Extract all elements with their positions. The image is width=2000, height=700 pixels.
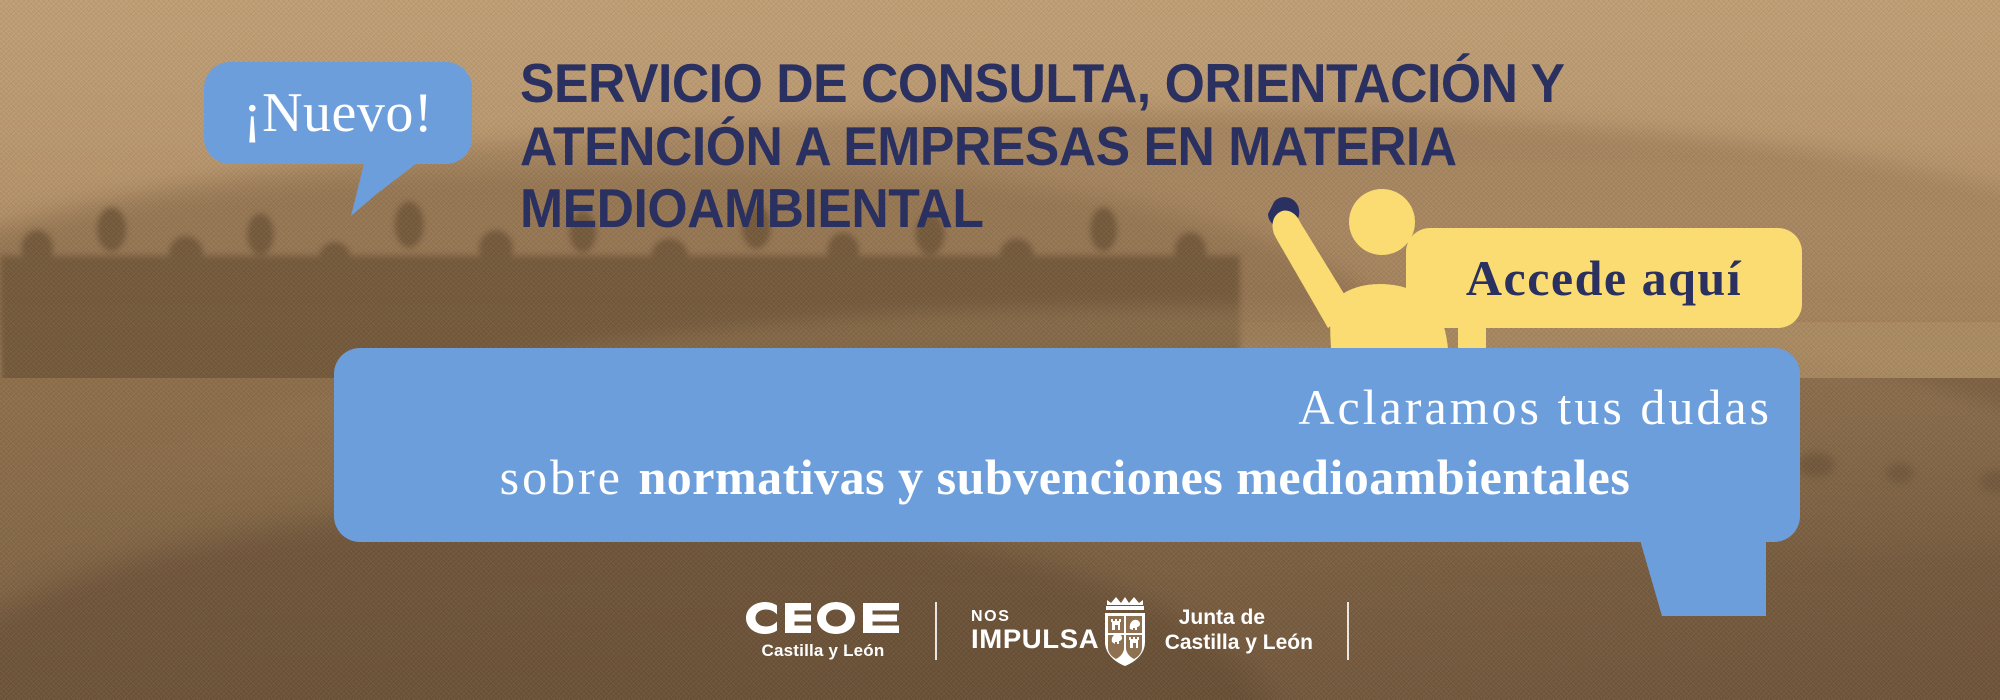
coat-of-arms-icon	[1097, 594, 1153, 668]
message-bubble-tail	[1640, 540, 1766, 616]
access-here-button[interactable]: Accede aquí	[1406, 228, 1802, 328]
access-here-button-label: Accede aquí	[1466, 249, 1742, 307]
promotional-banner: ¡Nuevo! SERVICIO DE CONSULTA, ORIENTACIÓ…	[0, 0, 2000, 700]
new-badge: ¡Nuevo!	[204, 62, 472, 164]
page-title: SERVICIO DE CONSULTA, ORIENTACIÓN Y ATEN…	[520, 52, 1761, 240]
ceoe-logo: Castilla y León	[745, 601, 901, 661]
ceoe-logo-subtitle: Castilla y León	[762, 641, 885, 661]
message-bubble	[334, 348, 1800, 542]
message-line-1: Aclaramos tus dudas	[334, 382, 1772, 432]
logo-row: Castilla y León NOS IMPULSA	[745, 588, 1383, 674]
headline-line-2: ATENCIÓN A EMPRESAS EN MATERIA	[520, 115, 1761, 178]
message-line-2-emphasis: normativas y subvenciones medioambiental…	[638, 449, 1630, 505]
message-line-2: sobre normativas y subvenciones medioamb…	[350, 452, 1780, 502]
nos-impulsa-line-1: NOS	[971, 609, 1010, 625]
logo-divider-1	[935, 602, 937, 660]
logo-divider-2	[1347, 602, 1349, 660]
nos-impulsa-line-2: IMPULSA	[971, 625, 1099, 653]
ceoe-wordmark-icon	[745, 601, 901, 635]
message-line-2-prefix: sobre	[500, 449, 639, 505]
junta-logo-line-2: Castilla y León	[1165, 631, 1313, 656]
junta-logo-line-1: Junta de	[1165, 606, 1313, 631]
junta-logo-text: Junta de Castilla y León	[1165, 606, 1313, 656]
junta-logo: Junta de Castilla y León	[1097, 594, 1313, 668]
headline-line-1: SERVICIO DE CONSULTA, ORIENTACIÓN Y	[520, 52, 1761, 115]
nos-impulsa-logo: NOS IMPULSA	[971, 609, 1097, 653]
new-badge-label: ¡Nuevo!	[243, 85, 433, 141]
